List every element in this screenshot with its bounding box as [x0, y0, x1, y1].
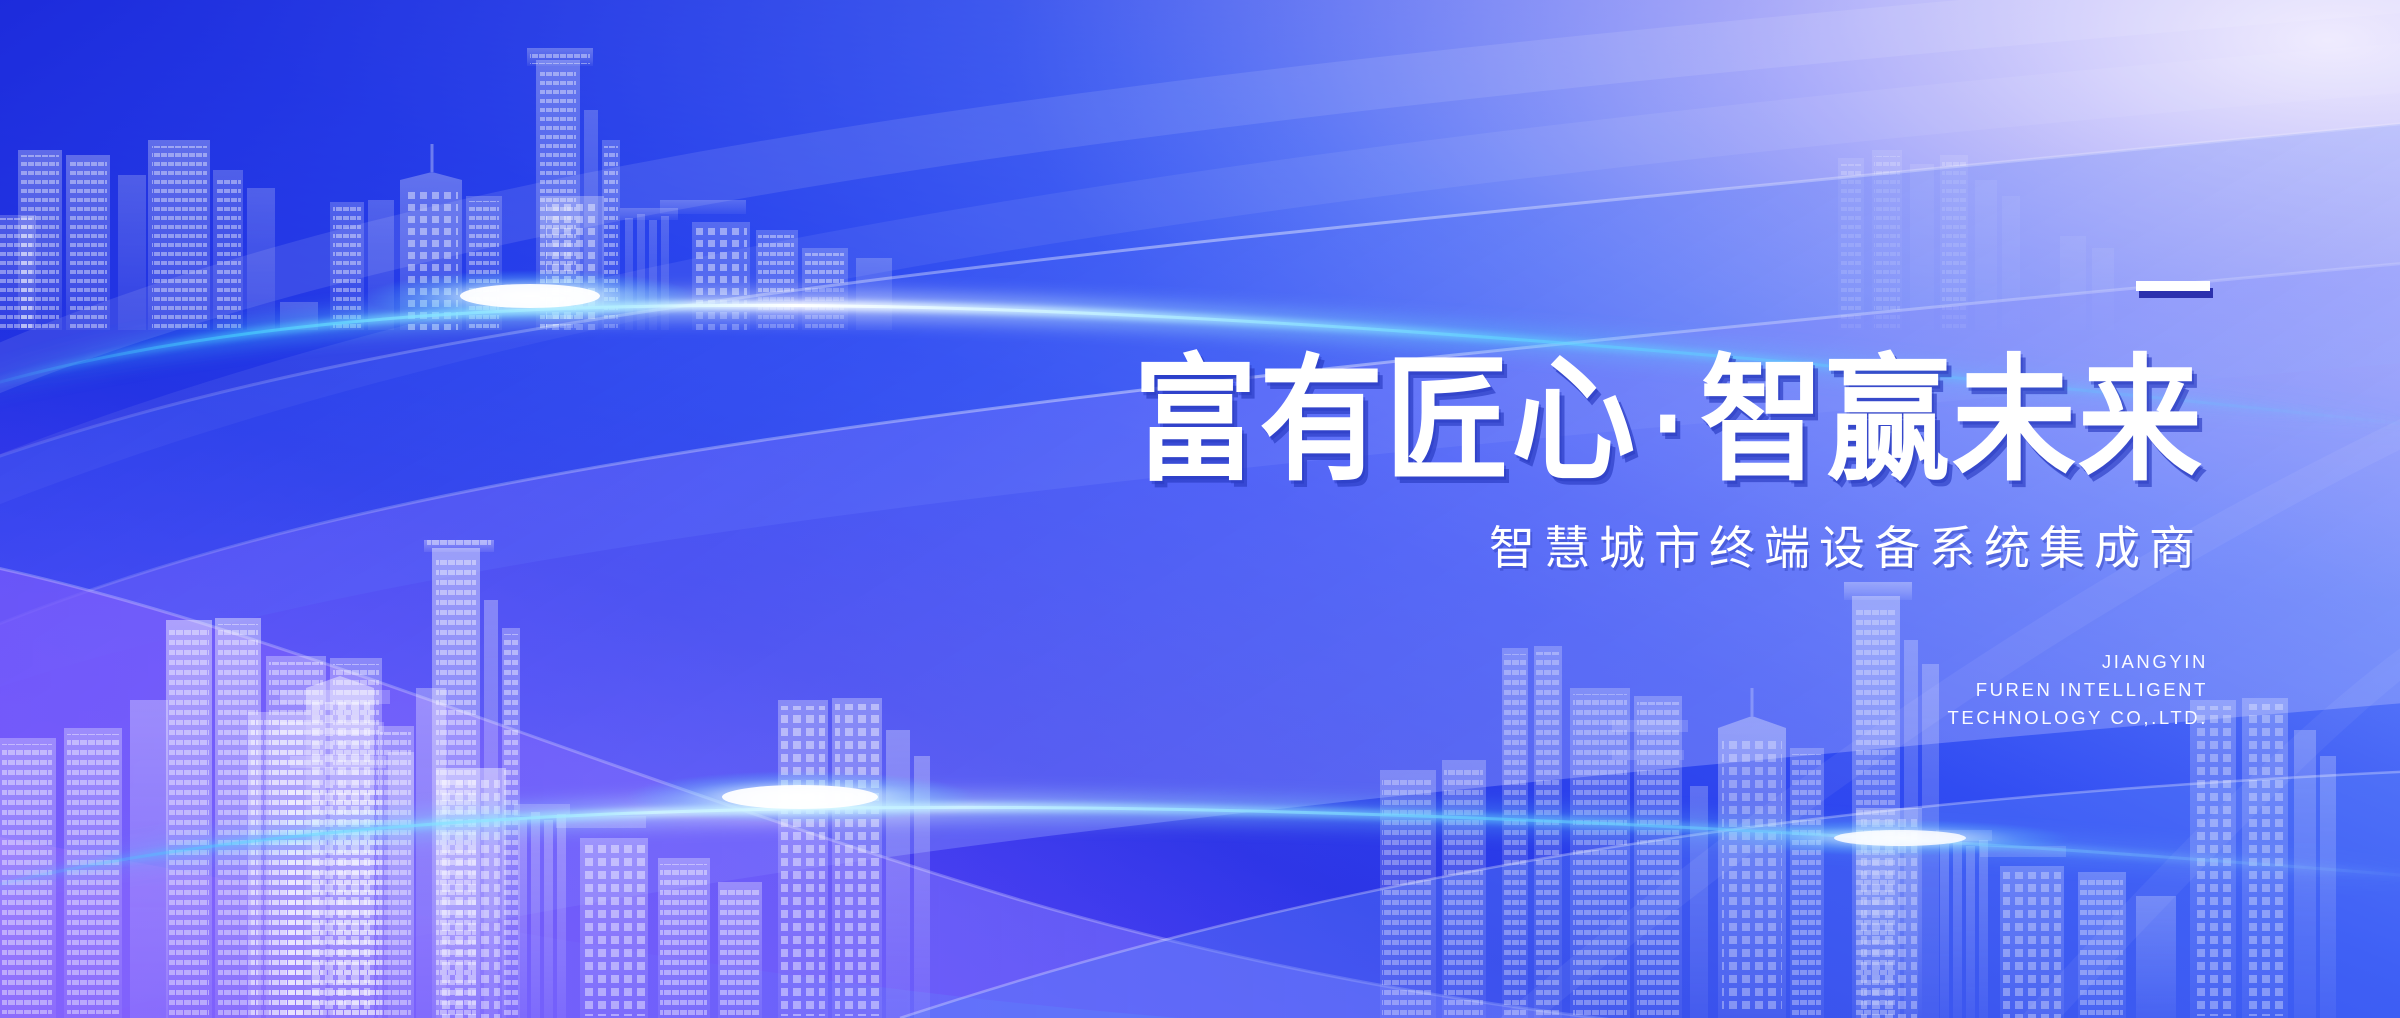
promo-banner: 富有匠心·智赢未来 智慧城市终端设备系统集成商 JIANGYIN FUREN I… [0, 0, 2400, 1018]
company-line-city: JIANGYIN [1948, 648, 2208, 676]
headline-left: 富有匠心 [1133, 342, 1637, 500]
company-line-name: FUREN INTELLIGENT [1948, 676, 2208, 704]
company-line-suffix: TECHNOLOGY CO,.LTD. [1948, 704, 2208, 732]
text-content-block: 富有匠心·智赢未来 智慧城市终端设备系统集成商 JIANGYIN FUREN I… [0, 0, 2400, 1018]
company-name-block: JIANGYIN FUREN INTELLIGENT TECHNOLOGY CO… [1948, 648, 2208, 732]
dash-accent-icon [2136, 281, 2210, 291]
headline-separator-dot: · [1637, 377, 1700, 473]
headline-right: 智赢未来 [1700, 342, 2204, 500]
page-title: 富有匠心·智赢未来 [1133, 352, 2204, 491]
page-subtitle: 智慧城市终端设备系统集成商 [1489, 512, 2204, 578]
